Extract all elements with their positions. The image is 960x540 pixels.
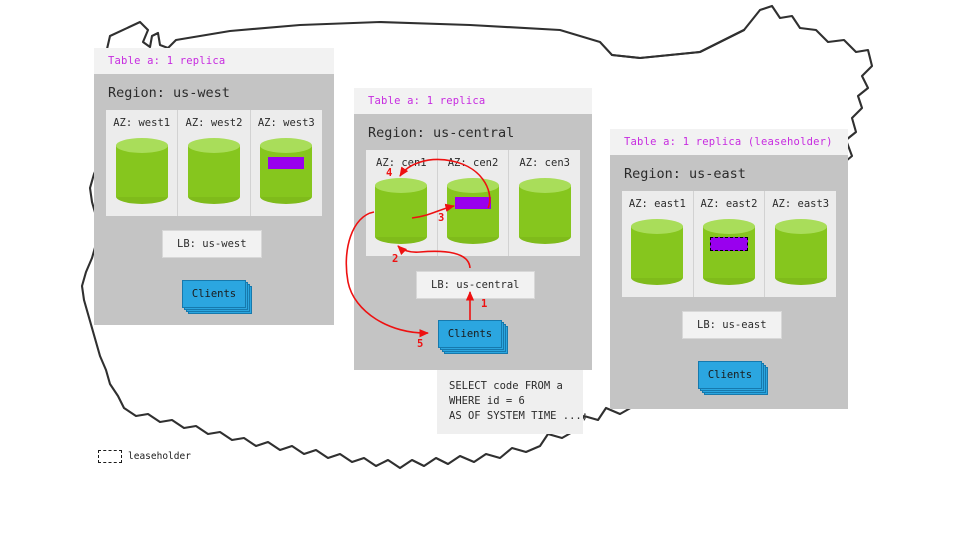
dashed-rect-icon xyxy=(98,450,122,463)
node-cylinder-cen2[interactable] xyxy=(447,178,499,244)
clients-us-west[interactable]: Clients xyxy=(182,280,244,306)
az-label: AZ: east1 xyxy=(622,198,693,210)
node-cylinder-west2[interactable] xyxy=(188,138,240,204)
cylinder-top xyxy=(703,219,755,234)
node-cylinder-east3[interactable] xyxy=(775,219,827,285)
cylinder-top xyxy=(375,178,427,193)
region-panel-us-east: Table a: 1 replica (leaseholder) Region:… xyxy=(610,129,848,409)
clients-label: Clients xyxy=(438,320,502,348)
cylinder-top xyxy=(447,178,499,193)
az-row-us-east: AZ: east1 AZ: east2 AZ: east3 xyxy=(622,191,836,297)
range-replica-leaseholder-east2 xyxy=(710,237,748,251)
az-cen1[interactable]: AZ: cen1 xyxy=(366,150,438,256)
az-west3[interactable]: AZ: west3 xyxy=(251,110,322,216)
az-label: AZ: west1 xyxy=(106,117,177,129)
region-header-us-east: Table a: 1 replica (leaseholder) xyxy=(610,129,848,155)
arrow-number-2: 2 xyxy=(392,253,398,265)
range-replica-west3 xyxy=(268,157,304,169)
az-row-us-central: AZ: cen1 AZ: cen2 AZ: cen3 xyxy=(366,150,580,256)
arrow-number-5: 5 xyxy=(417,338,423,350)
node-cylinder-east1[interactable] xyxy=(631,219,683,285)
load-balancer-us-west[interactable]: LB: us-west xyxy=(162,230,262,258)
az-east3[interactable]: AZ: east3 xyxy=(765,191,836,297)
arrow-number-3: 3 xyxy=(438,212,444,224)
sql-query-box: SELECT code FROM a WHERE id = 6 AS OF SY… xyxy=(437,370,583,434)
legend: leaseholder xyxy=(98,450,191,463)
az-label: AZ: cen2 xyxy=(438,157,509,169)
legend-label: leaseholder xyxy=(128,451,191,462)
az-west1[interactable]: AZ: west1 xyxy=(106,110,178,216)
node-cylinder-east2[interactable] xyxy=(703,219,755,285)
region-panel-us-central: Table a: 1 replica Region: us-central AZ… xyxy=(354,88,592,370)
az-label: AZ: east2 xyxy=(694,198,765,210)
clients-label: Clients xyxy=(698,361,762,389)
arrow-number-1: 1 xyxy=(481,298,487,310)
node-cylinder-west3[interactable] xyxy=(260,138,312,204)
node-cylinder-cen3[interactable] xyxy=(519,178,571,244)
az-label: AZ: cen1 xyxy=(366,157,437,169)
load-balancer-us-east[interactable]: LB: us-east xyxy=(682,311,782,339)
region-header-us-central: Table a: 1 replica xyxy=(354,88,592,114)
az-row-us-west: AZ: west1 AZ: west2 AZ: west3 xyxy=(106,110,322,216)
az-label: AZ: west2 xyxy=(178,117,249,129)
clients-us-east[interactable]: Clients xyxy=(698,361,760,387)
cylinder-top xyxy=(116,138,168,153)
az-east2[interactable]: AZ: east2 xyxy=(694,191,766,297)
range-replica-cen2 xyxy=(455,197,491,209)
az-label: AZ: cen3 xyxy=(509,157,580,169)
cylinder-top xyxy=(631,219,683,234)
arrow-number-4: 4 xyxy=(386,167,392,179)
az-label: AZ: west3 xyxy=(251,117,322,129)
diagram-canvas: Table a: 1 replica Region: us-west AZ: w… xyxy=(0,0,960,540)
az-west2[interactable]: AZ: west2 xyxy=(178,110,250,216)
node-cylinder-west1[interactable] xyxy=(116,138,168,204)
clients-us-central[interactable]: Clients xyxy=(438,320,500,346)
cylinder-top xyxy=(775,219,827,234)
region-title-us-west: Region: us-west xyxy=(94,74,334,110)
load-balancer-us-central[interactable]: LB: us-central xyxy=(416,271,535,299)
cylinder-top xyxy=(519,178,571,193)
az-east1[interactable]: AZ: east1 xyxy=(622,191,694,297)
az-cen2[interactable]: AZ: cen2 xyxy=(438,150,510,256)
cylinder-top xyxy=(188,138,240,153)
region-title-us-central: Region: us-central xyxy=(354,114,592,150)
node-cylinder-cen1[interactable] xyxy=(375,178,427,244)
region-header-us-west: Table a: 1 replica xyxy=(94,48,334,74)
region-title-us-east: Region: us-east xyxy=(610,155,848,191)
region-panel-us-west: Table a: 1 replica Region: us-west AZ: w… xyxy=(94,48,334,325)
cylinder-top xyxy=(260,138,312,153)
clients-label: Clients xyxy=(182,280,246,308)
az-cen3[interactable]: AZ: cen3 xyxy=(509,150,580,256)
az-label: AZ: east3 xyxy=(765,198,836,210)
